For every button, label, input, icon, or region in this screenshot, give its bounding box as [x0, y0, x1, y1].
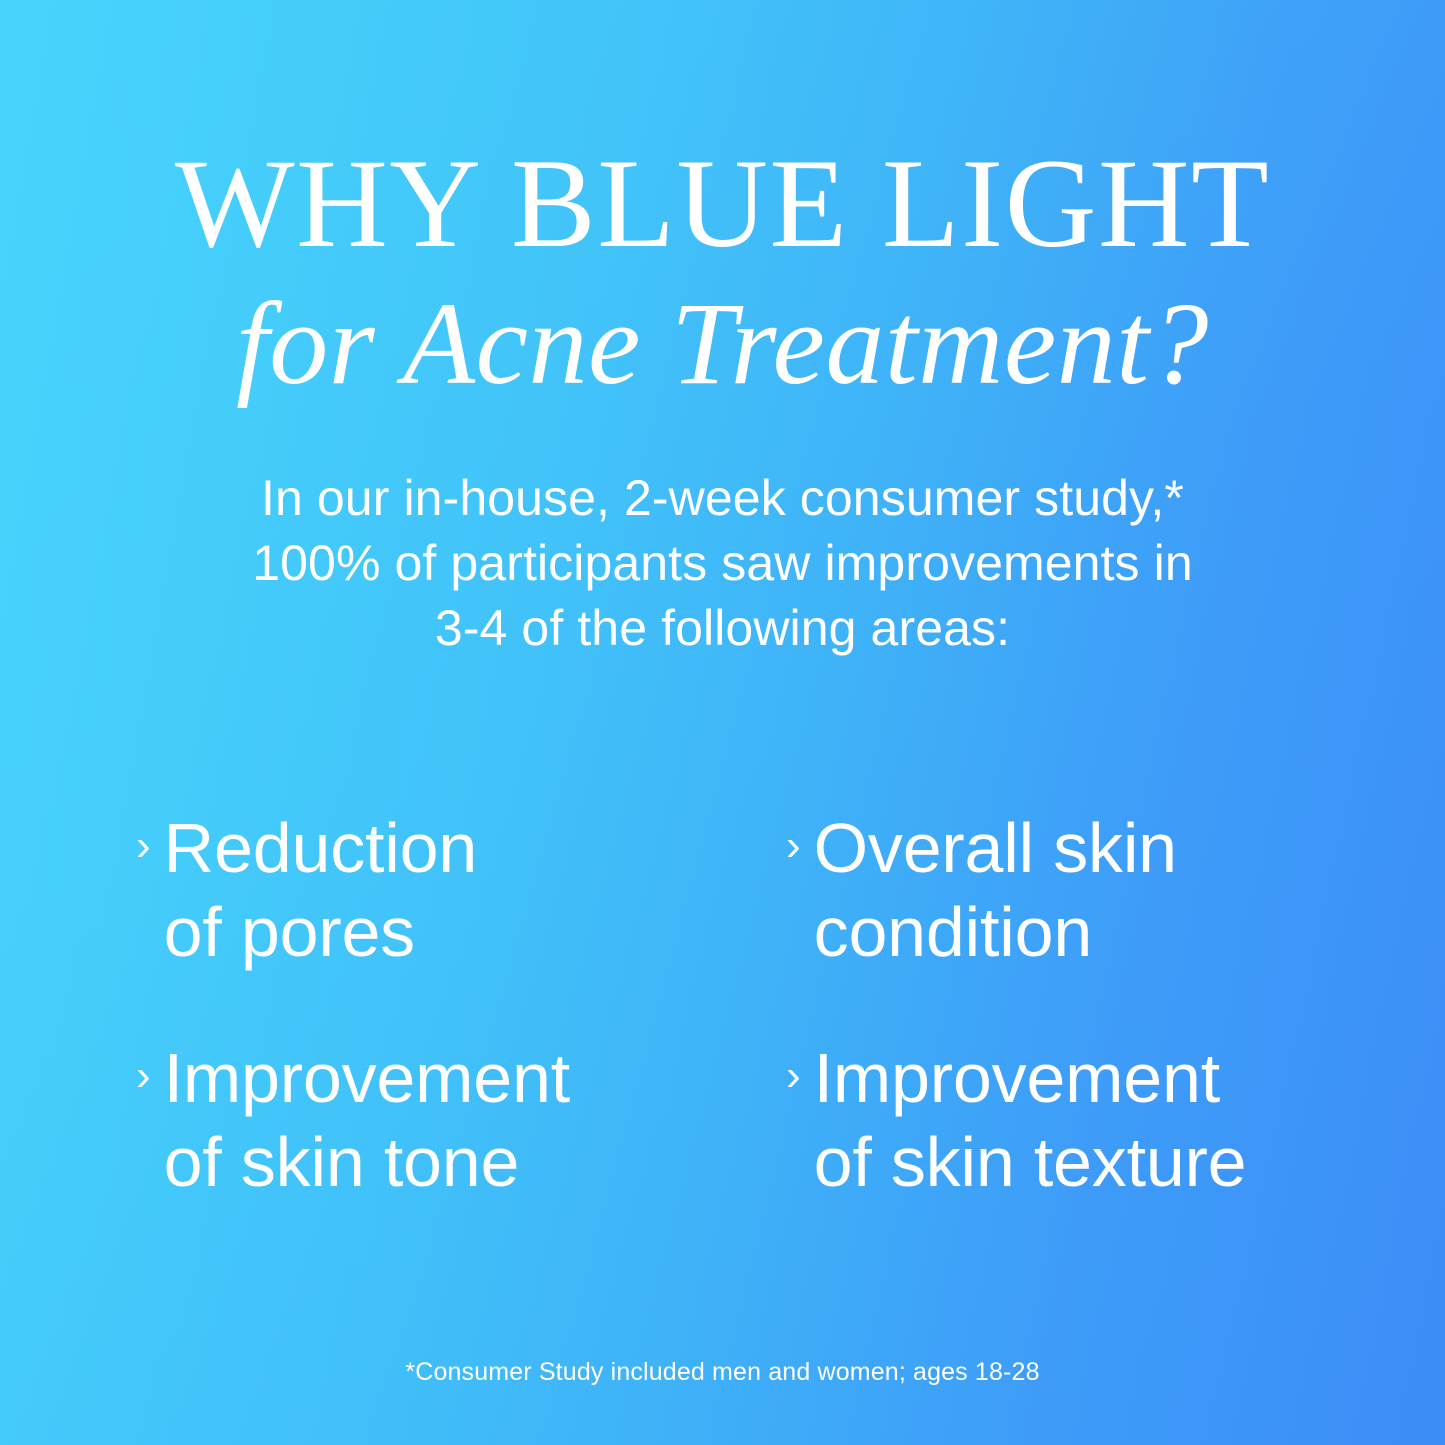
chevron-right-icon: ›	[136, 1054, 151, 1098]
list-item-line-1: Overall skin	[814, 806, 1177, 890]
intro-line-2: 100% of participants saw improvements in	[153, 531, 1293, 596]
list-item: › Reduction of pores	[136, 806, 786, 974]
list-item-label: Reduction of pores	[164, 806, 477, 974]
list-item-line-2: of skin texture	[814, 1120, 1247, 1204]
list-item: › Overall skin condition	[786, 806, 1376, 974]
list-item-label: Improvement of skin texture	[814, 1036, 1247, 1204]
footnote-disclaimer: *Consumer Study included men and women; …	[0, 1358, 1445, 1387]
chevron-right-icon: ›	[786, 824, 801, 868]
list-item-label: Overall skin condition	[814, 806, 1177, 974]
chevron-right-icon: ›	[136, 824, 151, 868]
promo-poster: WHY BLUE LIGHT for Acne Treatment? In ou…	[0, 0, 1445, 1445]
headline: WHY BLUE LIGHT for Acne Treatment?	[0, 140, 1445, 407]
headline-line-secondary: for Acne Treatment?	[0, 280, 1445, 407]
chevron-right-icon: ›	[786, 1054, 801, 1098]
intro-line-1: In our in-house, 2-week consumer study,*	[153, 466, 1293, 531]
headline-line-primary: WHY BLUE LIGHT	[0, 140, 1445, 270]
list-item-line-1: Reduction	[164, 806, 477, 890]
list-item: › Improvement of skin texture	[786, 1036, 1376, 1204]
list-item-line-2: condition	[814, 890, 1177, 974]
list-item: › Improvement of skin tone	[136, 1036, 786, 1204]
list-item-line-2: of skin tone	[164, 1120, 570, 1204]
intro-paragraph: In our in-house, 2-week consumer study,*…	[153, 466, 1293, 661]
list-item-label: Improvement of skin tone	[164, 1036, 570, 1204]
list-item-line-1: Improvement	[164, 1036, 570, 1120]
intro-line-3: 3-4 of the following areas:	[153, 596, 1293, 661]
list-item-line-1: Improvement	[814, 1036, 1247, 1120]
benefits-list: › Reduction of pores › Overall skin cond…	[136, 806, 1376, 1204]
list-item-line-2: of pores	[164, 890, 477, 974]
